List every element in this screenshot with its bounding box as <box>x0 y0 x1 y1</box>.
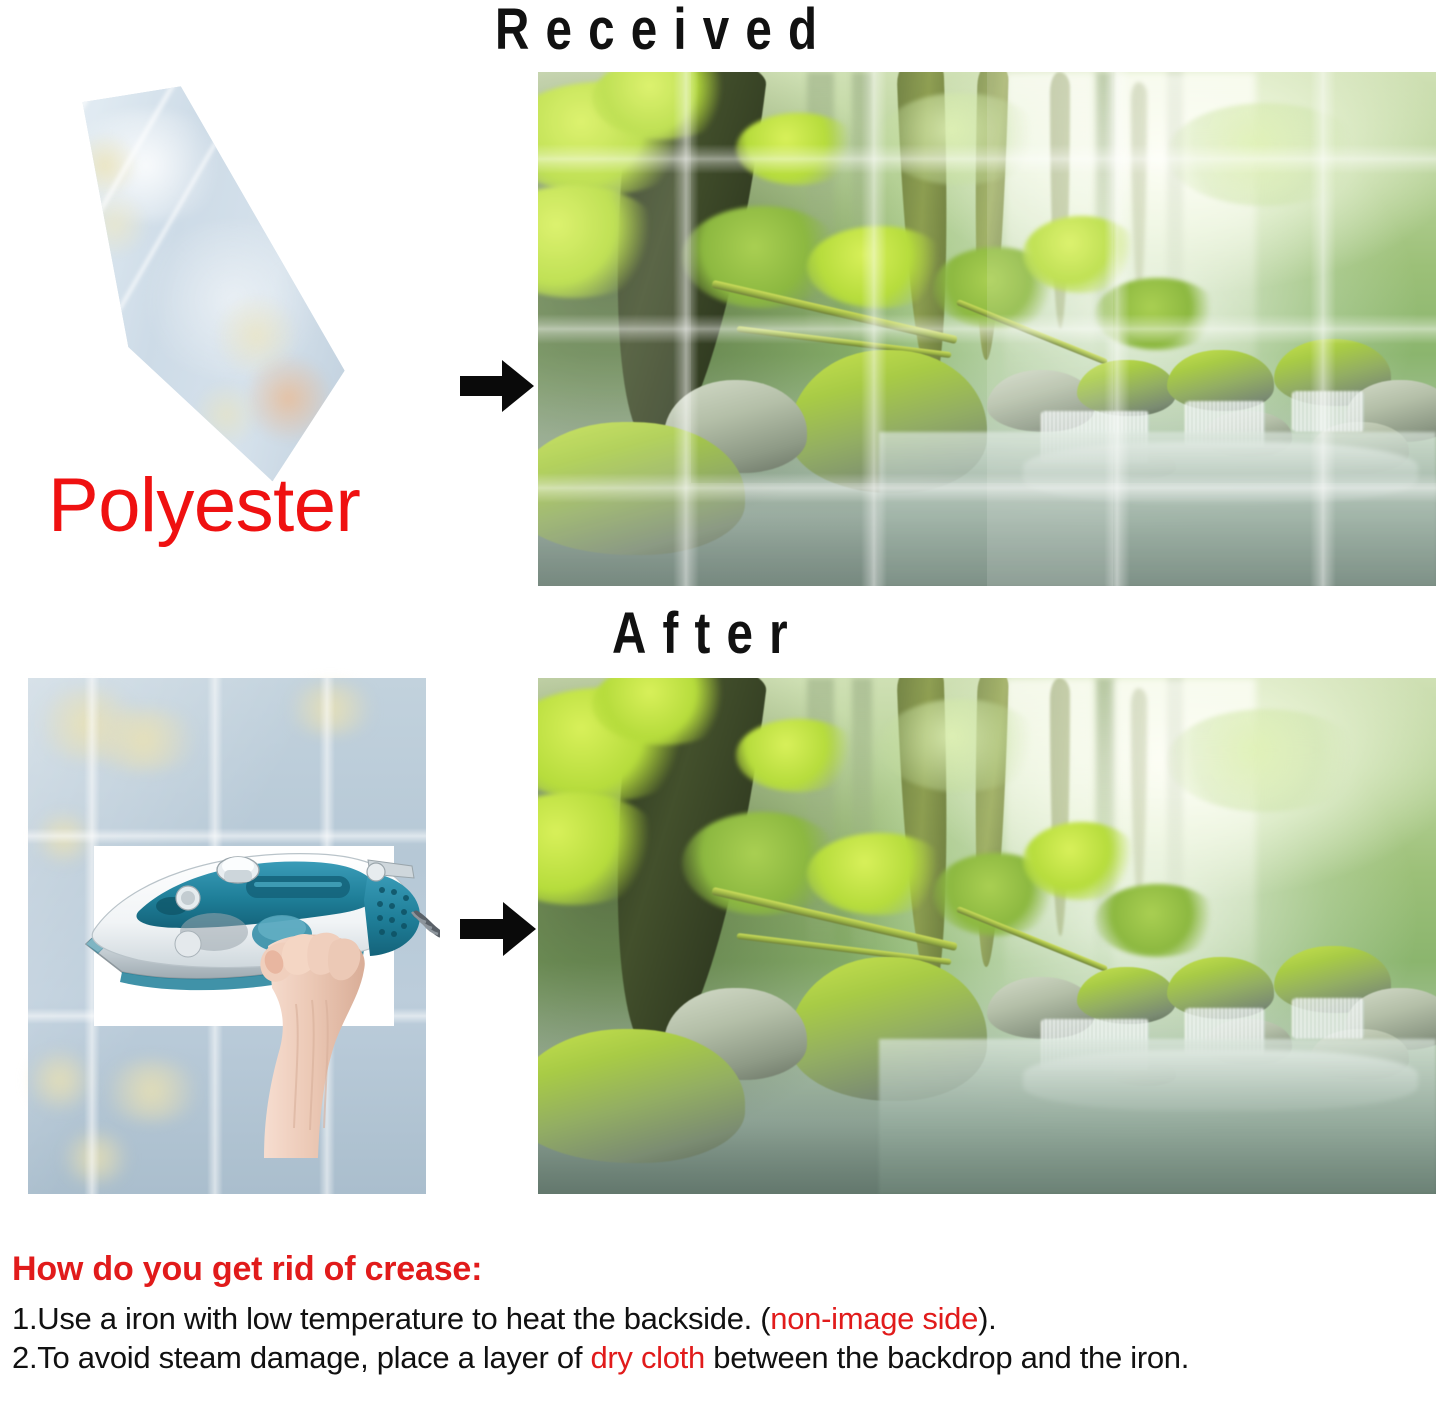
fabric-body <box>43 86 371 481</box>
fabric-print-smudge <box>82 189 148 260</box>
foliage <box>807 833 951 916</box>
fabric-print-smudge <box>194 379 260 450</box>
heading-after: After <box>612 600 804 667</box>
foliage <box>879 699 1041 792</box>
fabric-fold-line <box>0 63 188 450</box>
mossy-rock <box>1077 360 1176 417</box>
photo-received <box>538 72 1436 586</box>
photo-after <box>538 678 1436 1194</box>
stream-pool <box>879 432 1436 586</box>
instruction-1-highlight: non-image side <box>770 1301 978 1336</box>
fabric-swatch-image <box>18 78 438 498</box>
background-trunk <box>807 72 834 339</box>
waterfall <box>1292 391 1364 432</box>
foliage <box>736 113 862 185</box>
ironing-demo-image <box>28 678 426 1194</box>
fabric-fold-line <box>0 63 110 450</box>
polyester-label: Polyester <box>48 462 360 549</box>
instruction-1-text: 1.Use a iron with low temperature to hea… <box>12 1301 770 1336</box>
instruction-2-text-end: between the backdrop and the iron. <box>705 1340 1189 1375</box>
steam-iron-icon <box>68 828 440 1158</box>
instruction-2-highlight: dry cloth <box>590 1340 704 1375</box>
forest-scene <box>538 678 1436 1194</box>
foliage <box>736 719 862 791</box>
mossy-rock <box>1077 967 1176 1024</box>
instructions-block: How do you get rid of crease: 1.Use a ir… <box>12 1250 1436 1377</box>
instruction-1-text-end: ). <box>978 1301 996 1336</box>
heading-received: Received <box>495 0 833 63</box>
foliage <box>879 93 1041 186</box>
foliage <box>1023 822 1140 899</box>
foliage <box>1023 216 1140 293</box>
stream-pool <box>879 1039 1436 1194</box>
instruction-line-2: 2.To avoid steam damage, place a layer o… <box>12 1338 1436 1377</box>
forest-scene <box>538 72 1436 586</box>
foliage <box>1167 103 1365 206</box>
arrow-right-icon <box>458 898 538 960</box>
foliage <box>1095 278 1221 350</box>
arrow-right-icon <box>458 356 536 416</box>
fabric-print-smudge <box>246 347 331 450</box>
backing-stain <box>84 709 203 771</box>
foliage <box>807 226 951 308</box>
instruction-2-text: 2.To avoid steam damage, place a layer o… <box>12 1340 590 1375</box>
foliage <box>1167 709 1365 812</box>
foliage <box>1095 884 1221 956</box>
product-infographic: Received After Polyester <box>0 0 1436 1402</box>
waterfall <box>1292 998 1364 1039</box>
instruction-line-1: 1.Use a iron with low temperature to hea… <box>12 1299 1436 1338</box>
instructions-heading: How do you get rid of crease: <box>12 1250 1436 1289</box>
background-trunk <box>807 678 834 946</box>
